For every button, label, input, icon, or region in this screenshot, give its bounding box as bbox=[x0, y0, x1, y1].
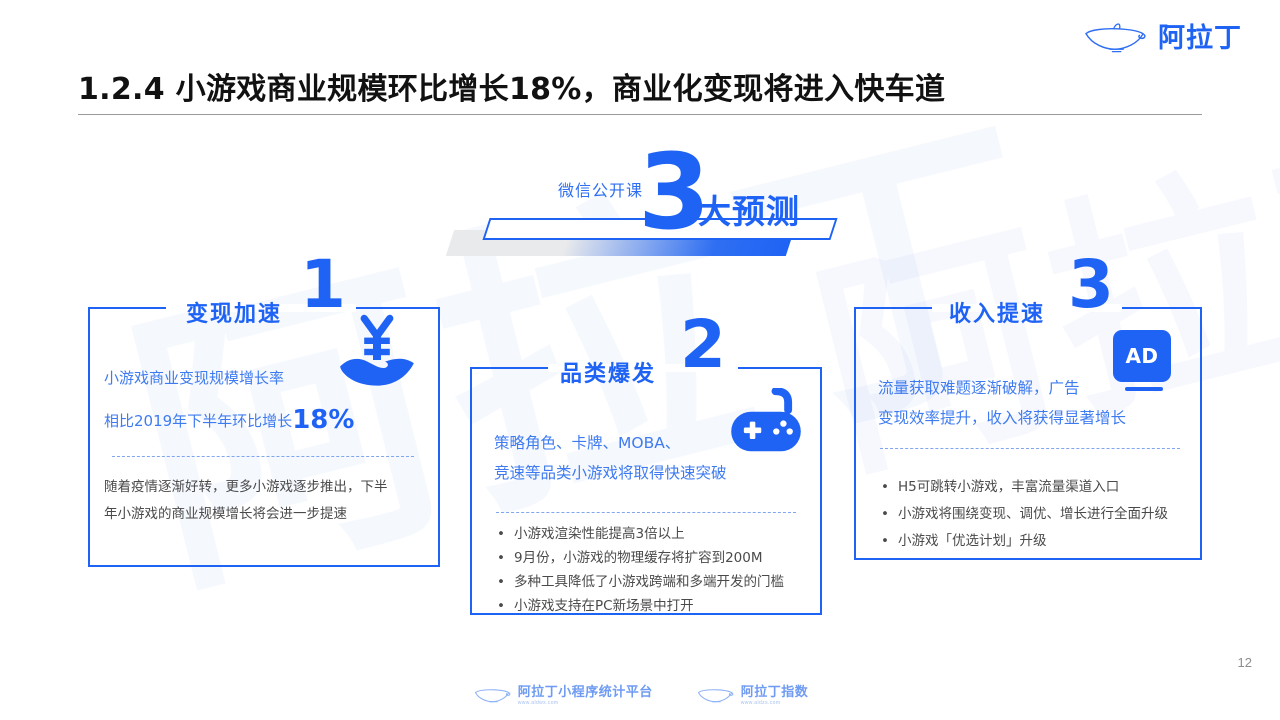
card-3-title: 收入提速 bbox=[949, 296, 1045, 328]
page-title: 1.2.4 小游戏商业规模环比增长18%，商业化变现将进入快车道 bbox=[78, 64, 945, 108]
card-3-bullets: H5可跳转小游戏，丰富流量渠道入口 小游戏将围绕变现、调优、增长进行全面升级 小… bbox=[878, 474, 1168, 555]
list-item: 小游戏将围绕变现、调优、增长进行全面升级 bbox=[878, 501, 1168, 528]
brand-logo: 阿拉丁 bbox=[1080, 16, 1242, 55]
slide-root: 阿拉丁 阿拉丁 阿拉丁 1.2.4 小游戏商业规模环比增长18%，商业化变现将进… bbox=[0, 0, 1280, 720]
magic-lamp-icon bbox=[472, 683, 514, 705]
list-item: H5可跳转小游戏，丰富流量渠道入口 bbox=[878, 474, 1168, 501]
magic-lamp-icon bbox=[695, 683, 737, 705]
card-1-note: 随着疫情逐渐好转，更多小游戏逐步推出，下半 年小游戏的商业规模增长将会进一步提速 bbox=[104, 474, 424, 528]
card-1-note-line-1: 随着疫情逐渐好转，更多小游戏逐步推出，下半 bbox=[104, 474, 424, 501]
list-item: 多种工具降低了小游戏跨端和多端开发的门槛 bbox=[494, 570, 784, 594]
card-1-percent-value: 18% bbox=[292, 405, 354, 435]
card-1-lead-line-1: 小游戏商业变现规模增长率 bbox=[104, 362, 284, 394]
brand-name: 阿拉丁 bbox=[1158, 16, 1242, 55]
title-divider bbox=[78, 114, 1202, 115]
footer-logo-2-text: 阿拉丁指数 www.aldzs.com bbox=[741, 681, 809, 706]
card-3-divider bbox=[880, 448, 1180, 449]
card-1-title: 变现加速 bbox=[186, 296, 282, 328]
list-item: 小游戏支持在PC新场景中打开 bbox=[494, 594, 784, 618]
list-item: 小游戏渲染性能提高3倍以上 bbox=[494, 522, 784, 546]
card-1-lead-line-2: 相比2019年下半年环比增长18% bbox=[104, 404, 354, 437]
footer-logo-1-text: 阿拉丁小程序统计平台 www.aldwx.com bbox=[518, 681, 653, 706]
card-3-number: 3 bbox=[1068, 252, 1114, 318]
magic-lamp-icon bbox=[1080, 18, 1152, 54]
card-2-number: 2 bbox=[680, 312, 726, 378]
list-item: 9月份，小游戏的物理缓存将扩容到200M bbox=[494, 546, 784, 570]
card-1-note-line-2: 年小游戏的商业规模增长将会进一步提速 bbox=[104, 501, 424, 528]
gamepad-icon bbox=[726, 388, 806, 456]
footer: 阿拉丁小程序统计平台 www.aldwx.com 阿拉丁指数 www.aldzs… bbox=[0, 681, 1280, 706]
banner: 微信公开课 3 大预测 bbox=[440, 150, 860, 270]
card-1-number: 1 bbox=[300, 252, 346, 318]
card-2-lead-line-2: 竞速等品类小游戏将取得快速突破 bbox=[494, 457, 727, 489]
banner-suffix: 大预测 bbox=[698, 185, 800, 233]
card-3-lead-line-2: 变现效率提升，收入将获得显著增长 bbox=[878, 402, 1126, 434]
footer-logo-2: 阿拉丁指数 www.aldzs.com bbox=[695, 681, 809, 706]
card-2-title: 品类爆发 bbox=[560, 356, 656, 388]
footer-logo-2-name: 阿拉丁指数 bbox=[741, 681, 809, 700]
footer-logo-1-name: 阿拉丁小程序统计平台 bbox=[518, 681, 653, 700]
hand-holding-yen-icon bbox=[336, 312, 418, 392]
card-1-lead-prefix: 相比2019年下半年环比增长 bbox=[104, 412, 292, 430]
card-2-lead-line-1: 策略角色、卡牌、MOBA、 bbox=[494, 427, 680, 459]
card-3-lead-line-1: 流量获取难题逐渐破解，广告 bbox=[878, 372, 1080, 404]
footer-logo-2-url: www.aldzs.com bbox=[741, 700, 809, 706]
ad-monitor-label: AD bbox=[1113, 330, 1171, 382]
ad-monitor-stand bbox=[1125, 387, 1163, 391]
footer-logos: 阿拉丁小程序统计平台 www.aldwx.com 阿拉丁指数 www.aldzs… bbox=[0, 681, 1280, 706]
footer-logo-1: 阿拉丁小程序统计平台 www.aldwx.com bbox=[472, 681, 653, 706]
card-2-divider bbox=[496, 512, 796, 513]
ad-monitor-icon: AD bbox=[1113, 330, 1175, 396]
list-item: 小游戏「优选计划」升级 bbox=[878, 528, 1168, 555]
card-2-bullets: 小游戏渲染性能提高3倍以上 9月份，小游戏的物理缓存将扩容到200M 多种工具降… bbox=[494, 522, 784, 618]
card-1-divider bbox=[112, 456, 414, 457]
banner-kicker: 微信公开课 bbox=[558, 177, 643, 201]
page-number: 12 bbox=[1238, 655, 1252, 670]
footer-logo-1-url: www.aldwx.com bbox=[518, 700, 653, 706]
